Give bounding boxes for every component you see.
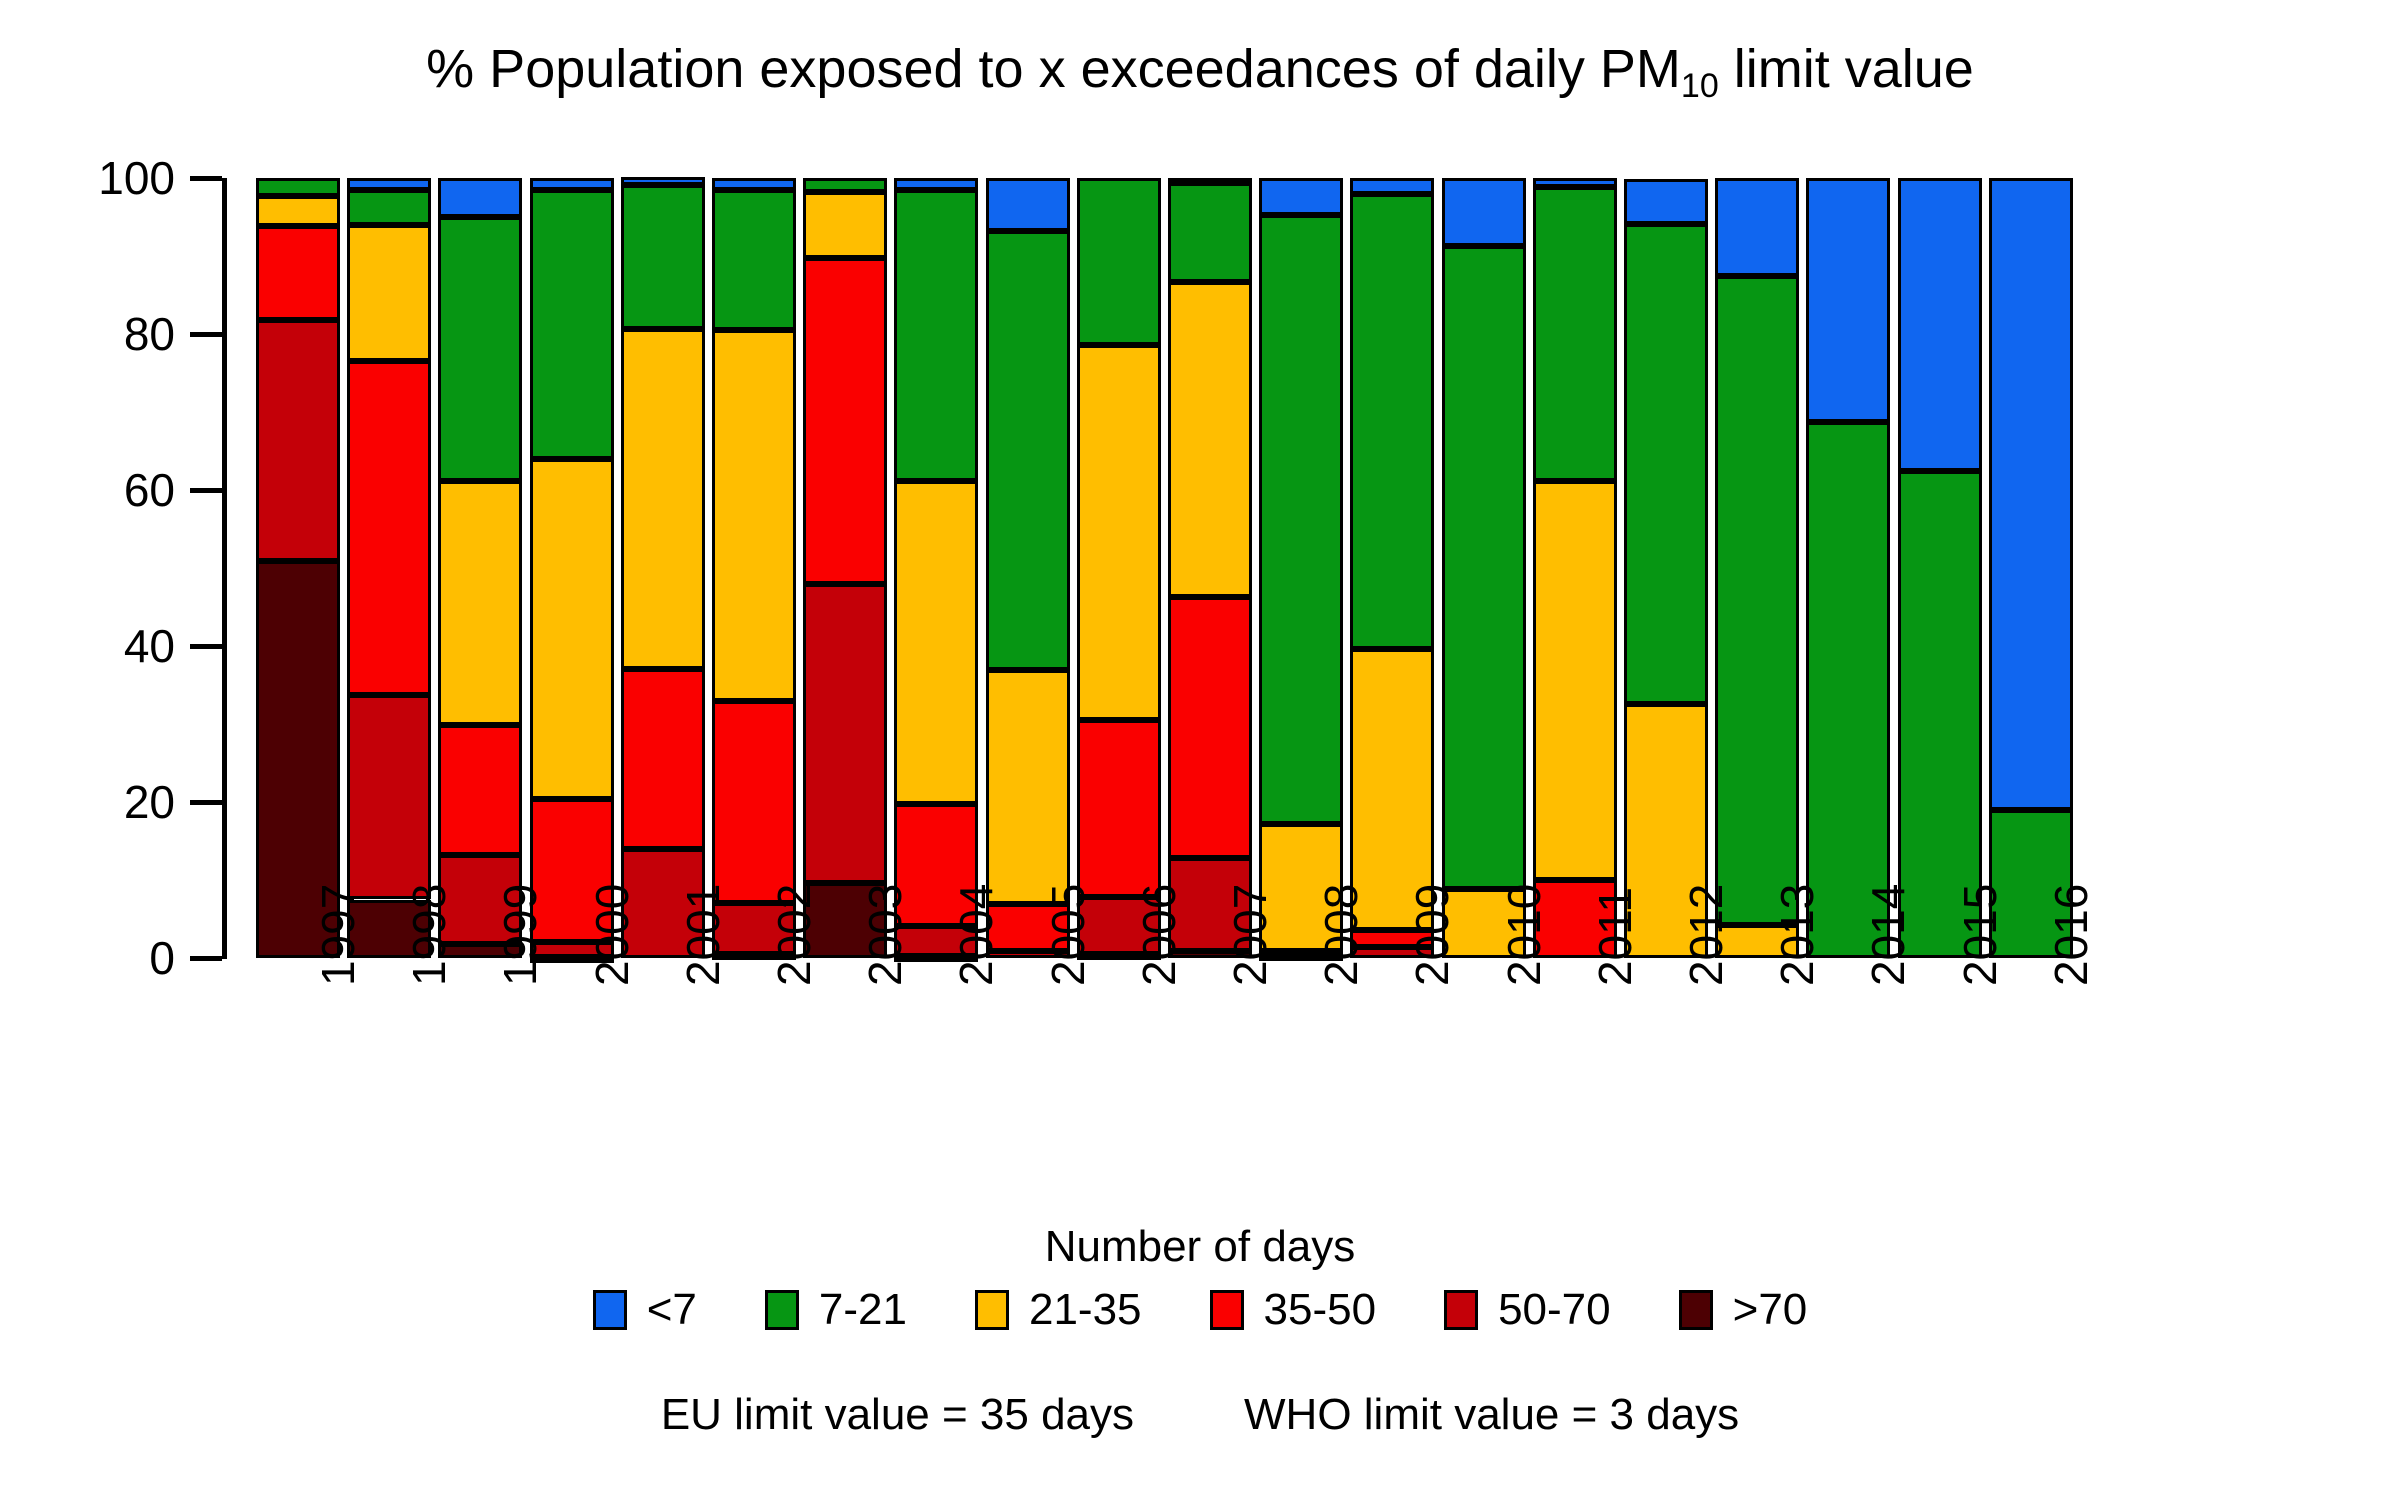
y-axis-tick	[190, 176, 222, 181]
bar-segment-2011-<7[interactable]	[1533, 178, 1617, 187]
bar-segment-1998-7-21[interactable]	[347, 190, 431, 225]
x-axis-label-2010: 2010	[1501, 884, 1547, 986]
y-axis-tick	[190, 956, 222, 961]
bar-segment-2000-7-21[interactable]	[530, 190, 614, 459]
bar-segment-2001-21-35[interactable]	[621, 329, 705, 670]
bar-segment-2005-7-21[interactable]	[986, 231, 1070, 670]
bar-segment-2007-21-35[interactable]	[1168, 282, 1252, 597]
x-axis-label-2004: 2004	[953, 884, 999, 986]
bar-segment-2001-35-50[interactable]	[621, 669, 705, 848]
x-axis-label-2011: 2011	[1592, 887, 1638, 986]
legend-item-7-21[interactable]: 7-21	[765, 1285, 907, 1335]
bar-2009[interactable]	[1350, 178, 1434, 958]
bar-2015[interactable]	[1898, 178, 1982, 958]
bar-2005[interactable]	[986, 178, 1070, 958]
plot-area: 020406080100 199719981999200020012002200…	[0, 0, 2400, 1000]
eu-limit-note: EU limit value = 35 days	[661, 1390, 1134, 1440]
bar-segment-2002-7-21[interactable]	[712, 190, 796, 330]
x-axis-label-2001: 2001	[680, 884, 726, 986]
x-axis-label-2002: 2002	[771, 884, 817, 986]
x-axis-label-2009: 2009	[1409, 884, 1455, 986]
bar-segment-2011-7-21[interactable]	[1533, 187, 1617, 480]
legend: <77-2121-3535-5050-70>70	[0, 1285, 2400, 1335]
bar-segment-1997-50-70[interactable]	[256, 320, 340, 561]
bar-segment-2015-<7[interactable]	[1898, 178, 1982, 471]
x-axis-label-2005: 2005	[1045, 884, 1091, 986]
who-limit-note: WHO limit value = 3 days	[1244, 1390, 1739, 1440]
legend-swatch-icon	[1444, 1290, 1478, 1330]
x-axis-label-1997: 1997	[315, 884, 361, 986]
bar-segment-2012-<7[interactable]	[1624, 179, 1708, 224]
bar-segment-1999-7-21[interactable]	[438, 217, 522, 481]
bar-2011[interactable]	[1533, 178, 1617, 958]
legend-label: <7	[647, 1285, 697, 1335]
bar-segment-2008-<7[interactable]	[1259, 178, 1343, 215]
bar-segment-1998-<7[interactable]	[347, 178, 431, 190]
legend-item->70[interactable]: >70	[1679, 1285, 1808, 1335]
legend-title: Number of days	[0, 1222, 2400, 1272]
bar-segment-1999-<7[interactable]	[438, 178, 522, 217]
bar-2012[interactable]	[1624, 178, 1708, 958]
bar-segment-2004-21-35[interactable]	[894, 481, 978, 805]
bar-segment-2001-<7[interactable]	[621, 177, 705, 185]
y-axis-tick-label: 40	[0, 623, 175, 669]
y-axis-tick-label: 20	[0, 779, 175, 825]
bar-segment-2003-7-21[interactable]	[803, 178, 887, 192]
legend-label: >70	[1733, 1285, 1808, 1335]
bar-segment-2004-<7[interactable]	[894, 178, 978, 190]
bar-segment-1998-35-50[interactable]	[347, 361, 431, 695]
bar-segment-2003-35-50[interactable]	[803, 258, 887, 585]
bar-segment-1997-21-35[interactable]	[256, 196, 340, 226]
bar-2014[interactable]	[1806, 178, 1890, 958]
legend-swatch-icon	[1210, 1290, 1244, 1330]
bar-2002[interactable]	[712, 178, 796, 958]
x-axis-label-2015: 2015	[1957, 884, 2003, 986]
bar-segment-2003-21-35[interactable]	[803, 192, 887, 258]
x-axis-label-2006: 2006	[1136, 884, 1182, 986]
bar-segment-2009-7-21[interactable]	[1350, 194, 1434, 650]
bar-segment-1998-21-35[interactable]	[347, 225, 431, 362]
legend-label: 7-21	[819, 1285, 907, 1335]
bar-segment-2012-7-21[interactable]	[1624, 224, 1708, 704]
bar-segment-2008-7-21[interactable]	[1259, 215, 1343, 823]
bar-segment-2010-<7[interactable]	[1442, 178, 1526, 246]
bar-segment-2003-50-70[interactable]	[803, 584, 887, 883]
y-axis-tick	[190, 488, 222, 493]
x-axis-label-2008: 2008	[1318, 884, 1364, 986]
bar-segment-2014-7-21[interactable]	[1806, 422, 1890, 958]
bar-segment-2005-21-35[interactable]	[986, 670, 1070, 904]
bar-segment-2002-<7[interactable]	[712, 178, 796, 190]
legend-swatch-icon	[1679, 1290, 1713, 1330]
legend-label: 50-70	[1498, 1285, 1611, 1335]
bar-1998[interactable]	[347, 178, 431, 958]
bar-segment-2011-21-35[interactable]	[1533, 481, 1617, 880]
bar-segment-2009-<7[interactable]	[1350, 178, 1434, 194]
bar-segment-2013-<7[interactable]	[1715, 178, 1799, 276]
bar-2004[interactable]	[894, 178, 978, 958]
bar-segment-2002-21-35[interactable]	[712, 330, 796, 701]
bar-segment-2016-<7[interactable]	[1989, 178, 2073, 810]
bar-segment-1997-35-50[interactable]	[256, 226, 340, 320]
bar-segment-2001-7-21[interactable]	[621, 185, 705, 329]
bar-segment-2010-7-21[interactable]	[1442, 246, 1526, 889]
y-axis-tick	[190, 800, 222, 805]
bar-segment-2013-7-21[interactable]	[1715, 276, 1799, 925]
bar-1997[interactable]	[256, 178, 340, 958]
bar-segment-2006-7-21[interactable]	[1077, 178, 1161, 345]
x-axis-label-2016: 2016	[2048, 884, 2094, 986]
y-axis-tick	[190, 644, 222, 649]
legend-label: 35-50	[1264, 1285, 1377, 1335]
y-axis-tick-label: 80	[0, 311, 175, 357]
bar-segment-2002-35-50[interactable]	[712, 701, 796, 903]
chart-root: % Population exposed to x exceedances of…	[0, 0, 2400, 1500]
bar-2016[interactable]	[1989, 178, 2073, 958]
bar-segment-2000-21-35[interactable]	[530, 459, 614, 799]
y-axis-tick-label: 60	[0, 467, 175, 513]
x-axis-label-1998: 1998	[406, 884, 452, 986]
x-axis-label-2012: 2012	[1683, 884, 1729, 986]
bar-segment-2004-7-21[interactable]	[894, 190, 978, 481]
bar-segment-1999-21-35[interactable]	[438, 481, 522, 725]
x-axis-label-2003: 2003	[862, 884, 908, 986]
y-axis-tick	[190, 332, 222, 337]
x-axis-label-2000: 2000	[589, 884, 635, 986]
bar-segment-1999-35-50[interactable]	[438, 725, 522, 855]
x-axis-label-2014: 2014	[1865, 884, 1911, 986]
x-axis-label-1999: 1999	[497, 884, 543, 986]
bar-2007[interactable]	[1168, 178, 1252, 958]
bar-2003[interactable]	[803, 178, 887, 958]
bar-2006[interactable]	[1077, 178, 1161, 958]
legend-swatch-icon	[593, 1290, 627, 1330]
bar-2008[interactable]	[1259, 178, 1343, 958]
bar-segment-2007-7-21[interactable]	[1168, 183, 1252, 282]
bar-2000[interactable]	[530, 178, 614, 958]
bar-segment-2005-<7[interactable]	[986, 178, 1070, 231]
x-axis-label-2013: 2013	[1774, 884, 1820, 986]
bar-2001[interactable]	[621, 178, 705, 958]
bar-segment-1997-7-21[interactable]	[256, 178, 340, 196]
legend-item-<7[interactable]: <7	[593, 1285, 697, 1335]
bar-segment-2007-<7[interactable]	[1168, 178, 1252, 184]
bar-1999[interactable]	[438, 178, 522, 958]
bar-segment-2006-35-50[interactable]	[1077, 720, 1161, 897]
bar-segment-2014-<7[interactable]	[1806, 178, 1890, 422]
bar-segment-2000-<7[interactable]	[530, 178, 614, 190]
footer-notes: EU limit value = 35 days WHO limit value…	[0, 1390, 2400, 1440]
bar-2013[interactable]	[1715, 178, 1799, 958]
legend-item-50-70[interactable]: 50-70	[1444, 1285, 1611, 1335]
bar-2010[interactable]	[1442, 178, 1526, 958]
bar-segment-2007-35-50[interactable]	[1168, 597, 1252, 858]
y-axis-tick-label: 100	[0, 155, 175, 201]
legend-label: 21-35	[1029, 1285, 1142, 1335]
x-axis-label-2007: 2007	[1227, 884, 1273, 986]
legend-swatch-icon	[765, 1290, 799, 1330]
y-axis-tick-label: 0	[0, 935, 175, 981]
legend-item-21-35[interactable]: 21-35	[975, 1285, 1142, 1335]
legend-swatch-icon	[975, 1290, 1009, 1330]
bar-segment-1998-50-70[interactable]	[347, 695, 431, 899]
legend-item-35-50[interactable]: 35-50	[1210, 1285, 1377, 1335]
bar-segment-2006-21-35[interactable]	[1077, 345, 1161, 720]
y-axis-line	[222, 178, 227, 959]
